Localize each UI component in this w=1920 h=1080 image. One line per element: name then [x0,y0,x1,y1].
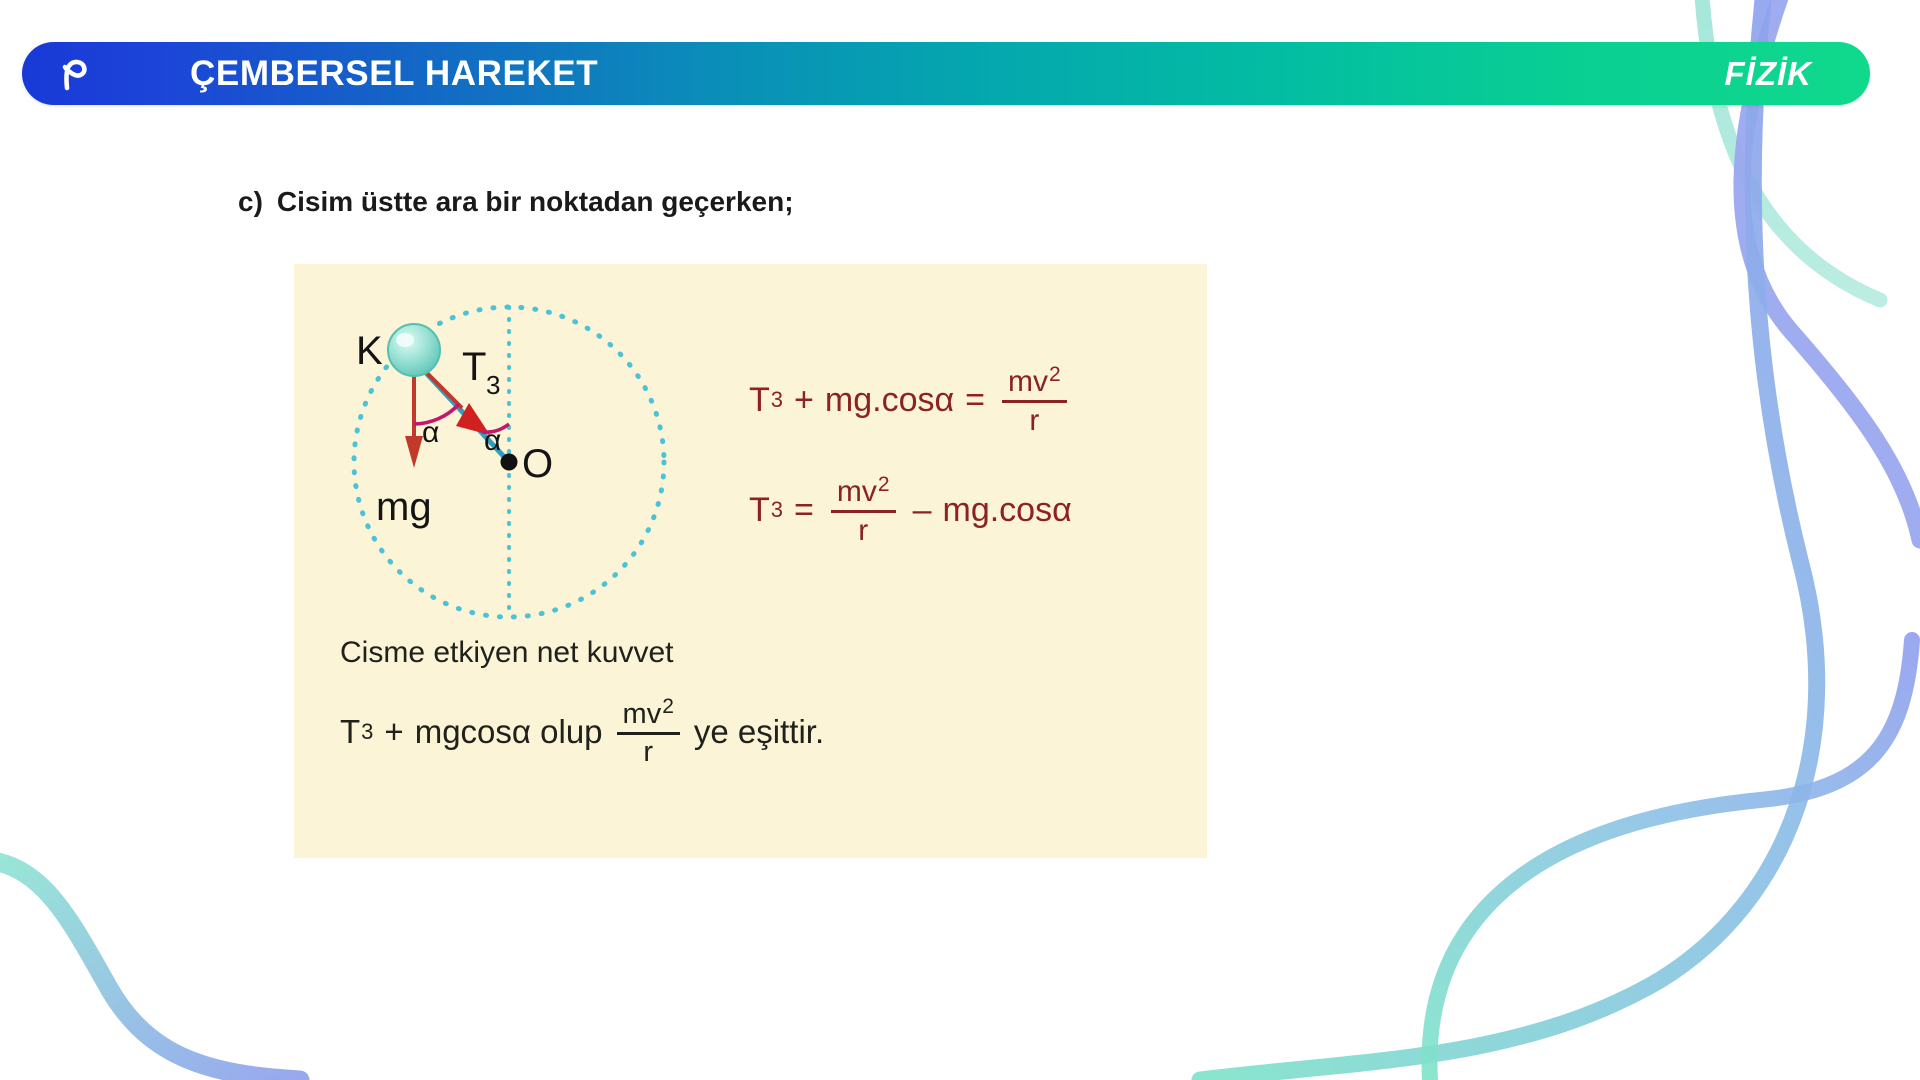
note2-t: T [340,713,360,751]
eq2-equals: = [794,491,814,530]
eq1-fraction: mv2 r [1002,364,1067,436]
eq1-denominator: r [1023,403,1045,436]
eq1-equals: = [965,381,985,420]
ball-highlight [396,333,414,347]
note2-tail: ye eşittir. [694,713,824,751]
note2-plus: + [384,713,403,751]
section-heading: c)Cisim üstte ara bir noktadan geçerken; [238,186,794,218]
eq2-num-sup: 2 [878,473,890,496]
eq2-lhs: T [749,491,770,530]
note2-t-sub: 3 [361,719,373,745]
content-card: K O T 3 α α mg T3 + mg.cosα = mv2 r [294,264,1207,858]
eq1-numerator: mv2 [1002,364,1067,400]
label-angle-center: α [484,424,501,457]
label-k: K [356,329,383,373]
note2-term: mgcosα olup [415,713,603,751]
section-heading-text: Cisim üstte ara bir noktadan geçerken; [277,186,794,217]
eq2-fraction: mv2 r [831,474,896,546]
label-o: O [522,442,553,486]
deco-curve-bottom-right [1429,640,1912,1080]
equation-1: T3 + mg.cosα = mv2 r [749,364,1073,436]
label-tension-subscript: 3 [486,370,500,400]
equation-2: T3 = mv2 r – mg.cosα [749,474,1072,546]
eq2-num-text: mv [837,475,877,508]
eq2-lhs-sub: 3 [771,497,783,523]
note2-num-sup: 2 [662,695,674,718]
eq1-num-sup: 2 [1049,363,1061,386]
note2-denominator: r [637,735,659,767]
header-title: ÇEMBERSEL HAREKET [190,54,598,94]
weight-vector-head [405,436,423,468]
label-tension: T [462,345,486,389]
note2-num-text: mv [623,698,662,730]
eq1-lhs-sub: 3 [771,387,783,413]
label-weight: mg [376,485,432,529]
note2-numerator: mv2 [617,696,680,732]
label-angle-top: α [422,416,439,449]
eq1-plus: + [794,381,814,420]
center-dot [501,454,518,471]
deco-curve-right-long [1200,0,1817,1080]
pi-logo-icon [53,52,97,96]
header-bar: ÇEMBERSEL HAREKET FİZİK [22,42,1870,105]
header-subject-badge: FİZİK [1725,55,1812,93]
circular-motion-diagram: K O T 3 α α mg [304,272,724,672]
note-line-1: Cisme etkiyen net kuvvet [340,636,673,670]
object-ball [388,324,440,376]
eq2-term: mg.cosα [943,491,1072,530]
eq1-term: mg.cosα [825,381,954,420]
section-heading-marker: c) [238,186,263,217]
slide-page: ÇEMBERSEL HAREKET FİZİK c)Cisim üstte ar… [0,0,1920,1080]
deco-curve-bottom-left [0,860,300,1080]
eq2-numerator: mv2 [831,474,896,510]
eq1-num-text: mv [1008,365,1048,398]
note2-fraction: mv2 r [617,696,680,767]
eq1-lhs: T [749,381,770,420]
note-line-2: T3 + mgcosα olup mv2 r ye eşittir. [340,696,824,767]
eq2-minus: – [913,491,932,530]
brand-logo[interactable] [52,51,98,97]
eq2-denominator: r [852,513,874,546]
